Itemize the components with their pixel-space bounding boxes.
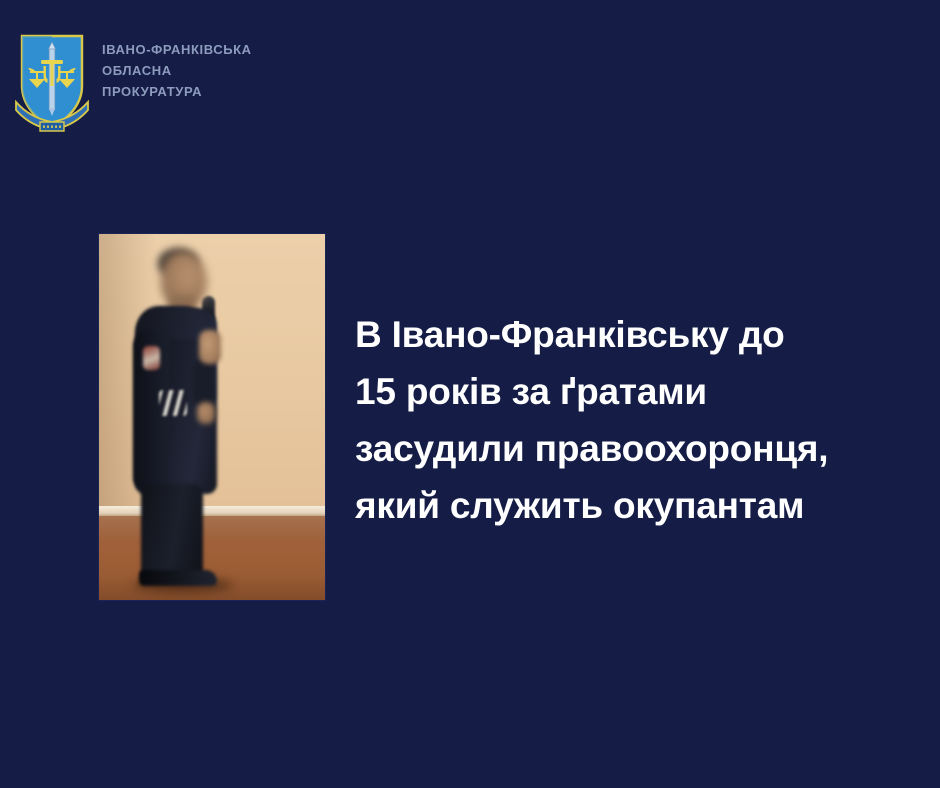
brand-title: ІВАНО-ФРАНКІВСЬКА ОБЛАСНА ПРОКУРАТУРА — [102, 30, 252, 99]
subject-legs — [141, 484, 203, 580]
subject-hand-holding-mic — [199, 330, 221, 364]
subject-forearm — [193, 360, 215, 406]
uniform-sleeve-stripes — [159, 390, 187, 416]
news-announcement-card: ІВАНО-ФРАНКІВСЬКА ОБЛАСНА ПРОКУРАТУРА — [0, 0, 940, 788]
headline-line-4: який служить окупантам — [355, 477, 885, 534]
subject-second-hand — [197, 402, 215, 424]
brand-line-2: ОБЛАСНА — [102, 63, 252, 78]
headline-line-1: В Івано-Франківську до — [355, 306, 885, 363]
headline-line-2: 15 років за ґратами — [355, 363, 885, 420]
prosecutor-office-coat-of-arms-icon — [14, 30, 90, 134]
headline-line-3: засудили правоохоронця, — [355, 420, 885, 477]
brand-line-1: ІВАНО-ФРАНКІВСЬКА — [102, 42, 252, 57]
brand-block: ІВАНО-ФРАНКІВСЬКА ОБЛАСНА ПРОКУРАТУРА — [14, 30, 252, 134]
subject-shoe — [139, 570, 217, 586]
uniform-shoulder-patch — [143, 346, 160, 370]
photo-subject-officer — [99, 234, 325, 600]
headline: В Івано-Франківську до 15 років за ґрата… — [355, 306, 885, 534]
news-photo — [99, 234, 325, 600]
brand-line-3: ПРОКУРАТУРА — [102, 84, 252, 99]
